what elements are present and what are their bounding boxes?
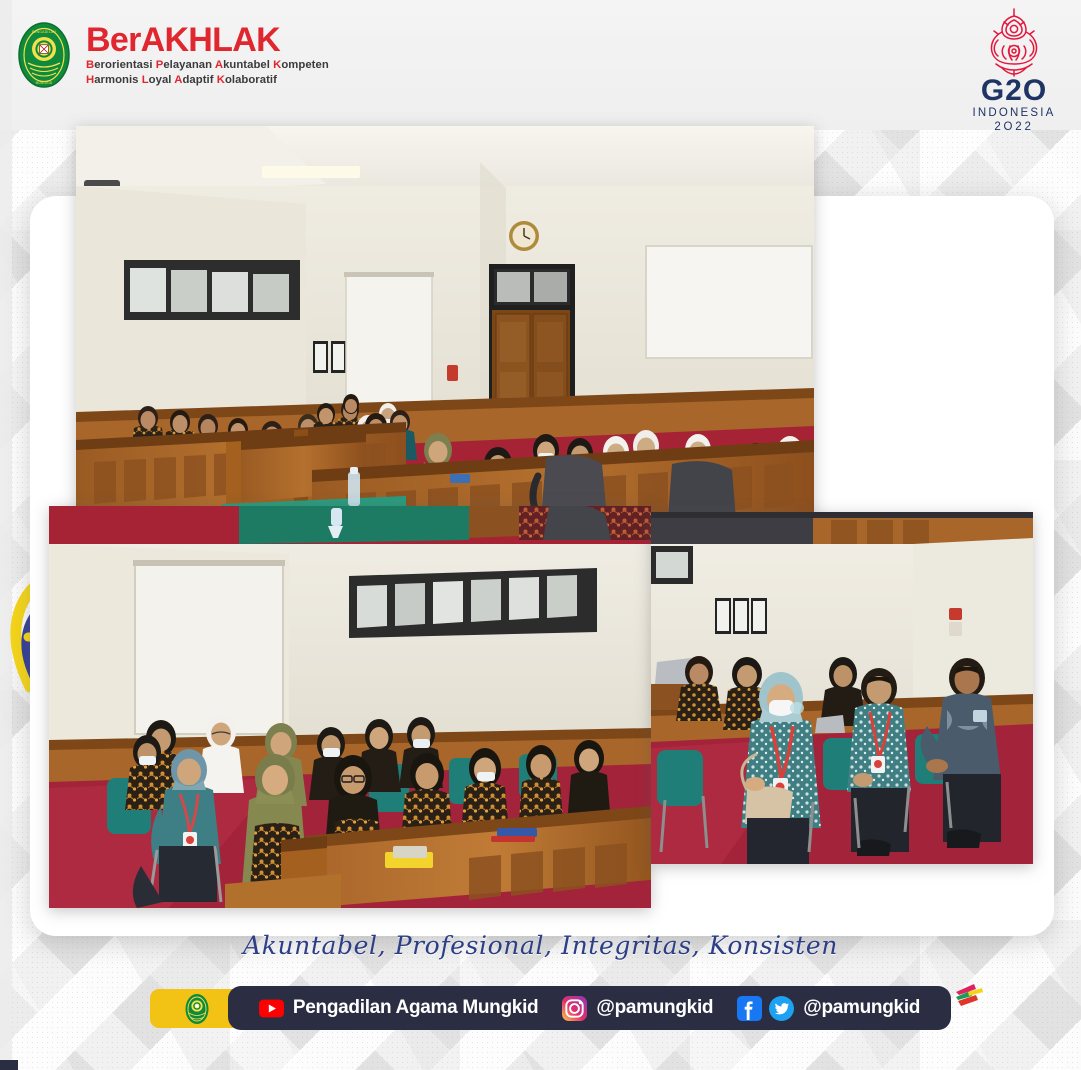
social-channel-facebook-twitter[interactable]: @pamungkid xyxy=(737,996,920,1021)
poster-header: PENGADILAN MUNGKID BerAKHLAK Berorientas… xyxy=(0,0,1081,130)
poster-canvas: PENGADILAN MUNGKID BerAKHLAK Berorientas… xyxy=(0,0,1081,1070)
tagline-text: Akuntabel, Profesional, Integritas, Kons… xyxy=(0,931,1081,960)
background-left-band xyxy=(0,0,12,1070)
photo-courtroom-wide xyxy=(76,126,814,544)
twitter-icon[interactable] xyxy=(769,996,794,1021)
svg-text:PENGADILAN: PENGADILAN xyxy=(32,30,56,34)
court-seal-badge-icon xyxy=(184,993,210,1025)
brand-subtitle-line-1: Berorientasi Pelayanan Akuntabel Kompete… xyxy=(86,58,329,73)
g20-year-label: 2O22 xyxy=(968,120,1060,134)
bottom-left-corner-strip xyxy=(0,1060,18,1070)
social-channel-instagram[interactable]: @pamungkid xyxy=(562,996,713,1021)
g20-batik-ornament-icon xyxy=(968,6,1060,78)
social-channel-youtube[interactable]: Pengadilan Agama Mungkid xyxy=(259,996,538,1021)
youtube-icon[interactable] xyxy=(259,996,284,1021)
court-seal-icon: PENGADILAN MUNGKID xyxy=(17,21,71,89)
colorful-chevron-mark-icon xyxy=(952,978,990,1010)
instagram-handle-label: @pamungkid xyxy=(596,997,713,1019)
brand-subtitle-line-2: Harmonis Loyal Adaptif Kolaboratif xyxy=(86,73,329,88)
youtube-channel-label: Pengadilan Agama Mungkid xyxy=(293,997,538,1019)
g20-country-label: INDONESIA xyxy=(968,106,1060,120)
g20-logo: G2O INDONESIA 2O22 xyxy=(968,6,1060,130)
facebook-twitter-handle-label: @pamungkid xyxy=(803,997,920,1019)
svg-text:MUNGKID: MUNGKID xyxy=(36,81,53,85)
facebook-icon[interactable] xyxy=(737,996,762,1021)
photo-staff-seated xyxy=(651,512,1033,864)
brand-block: BerAKHLAK Berorientasi Pelayanan Akuntab… xyxy=(86,22,329,88)
photo-women-attendees xyxy=(49,506,651,908)
footer-social-bar: Pengadilan Agama Mungkid @pamungkid xyxy=(228,986,951,1030)
instagram-icon[interactable] xyxy=(562,996,587,1021)
g20-wordmark: G2O xyxy=(968,76,1060,106)
brand-title: BerAKHLAK xyxy=(86,22,329,58)
